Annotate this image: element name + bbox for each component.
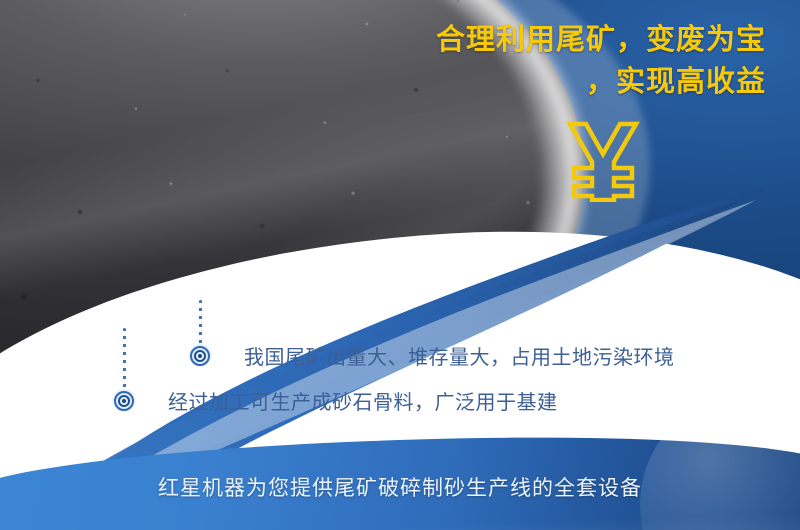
leader-line-2: [123, 328, 126, 388]
bullet-item-2: 经过加工可生产成砂石骨料，广泛用于基建: [112, 386, 558, 415]
headline: 合理利用尾矿，变废为宝 ，实现高收益: [346, 20, 766, 104]
bullet-text-1: 我国尾矿出量大、堆存量大，占用土地污染环境: [244, 341, 675, 370]
circle-marker-icon: [188, 344, 212, 368]
leader-line-1: [199, 300, 202, 344]
footer-text: 红星机器为您提供尾矿破碎制砂生产线的全套设备: [0, 472, 800, 502]
yen-symbol-icon: [566, 118, 640, 202]
headline-line-1: 合理利用尾矿，变废为宝: [346, 20, 766, 62]
bullet-text-2: 经过加工可生产成砂石骨料，广泛用于基建: [168, 386, 558, 415]
circle-marker-icon: [112, 389, 136, 413]
headline-line-2: ，实现高收益: [346, 62, 766, 104]
bullet-item-1: 我国尾矿出量大、堆存量大，占用土地污染环境: [188, 341, 675, 370]
promo-banner: 合理利用尾矿，变废为宝 ，实现高收益 我国尾矿出量大、堆存量大，占用土地污染环境…: [0, 0, 800, 530]
